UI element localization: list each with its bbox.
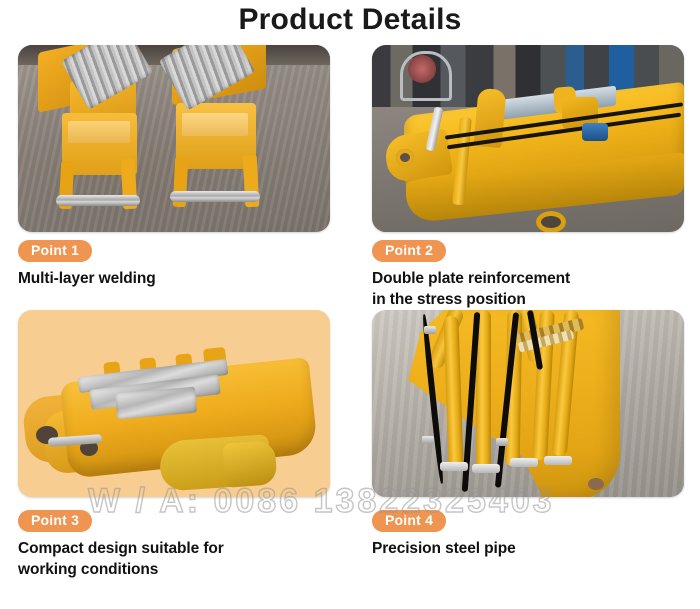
product-photo-4[interactable] [372,310,684,497]
product-photo-2[interactable] [372,45,684,232]
point-block-3: Point 3 Compact design suitable for work… [18,510,348,580]
photo2-boom [386,71,684,221]
point-text-3-line-2: working conditions [18,559,348,580]
product-details-page: Product Details [0,0,700,609]
point-text-4: Precision steel pipe [372,538,692,559]
point-block-2: Point 2 Double plate reinforcement in th… [372,240,692,310]
product-detail-cell-3 [18,310,330,497]
point-text-4-line-1: Precision steel pipe [372,538,692,559]
product-photo-1[interactable] [18,45,330,232]
product-detail-cell-1 [18,45,330,232]
point-badge-2: Point 2 [372,240,446,262]
point-block-4: Point 4 Precision steel pipe [372,510,692,559]
point-text-1-line-1: Multi-layer welding [18,268,348,289]
photo1-steel-pin-left [56,195,140,206]
photo2-hydraulic-fitting [582,123,608,141]
point-text-2: Double plate reinforcement in the stress… [372,268,692,310]
point-text-2-line-1: Double plate reinforcement [372,268,692,289]
point-badge-4: Point 4 [372,510,446,532]
point-block-1: Point 1 Multi-layer welding [18,240,348,289]
point-text-1: Multi-layer welding [18,268,348,289]
point-badge-3: Point 3 [18,510,92,532]
point-text-3: Compact design suitable for working cond… [18,538,348,580]
page-title: Product Details [0,2,700,38]
point-badge-1: Point 1 [18,240,92,262]
product-detail-cell-2 [372,45,684,232]
point-text-3-line-1: Compact design suitable for [18,538,348,559]
photo1-steel-pin-right [170,191,260,202]
product-detail-cell-4 [372,310,684,497]
product-photo-3[interactable] [18,310,330,497]
point-text-2-line-2: in the stress position [372,289,692,310]
